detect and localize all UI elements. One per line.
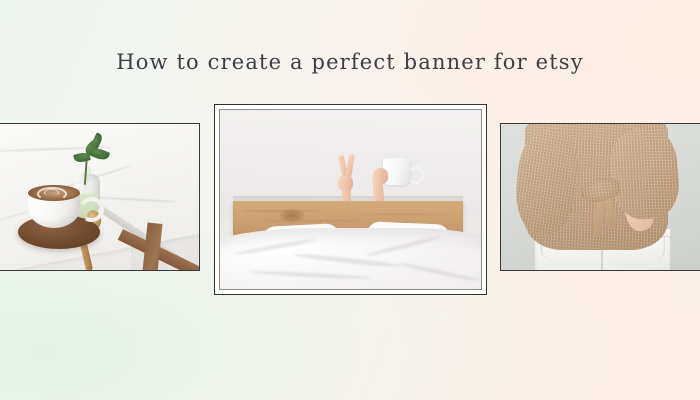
duvet-fold [396,261,480,282]
white-duvet [219,228,482,290]
photo-coffee-inner [0,124,199,270]
left-hand [338,175,353,191]
duvet-fold [294,253,401,269]
duvet-fold [365,234,443,257]
sweater-scene [501,124,700,270]
wood-grain [359,214,446,215]
mug-handle [407,166,425,184]
photo-knit-sweater-outfit [500,123,700,271]
right-hand [373,168,388,184]
photo-coffee-on-marble [0,123,200,271]
wood-grain [261,220,367,221]
etsy-banner: How to create a perfect banner for etsy [0,0,700,400]
photo-bed-inner [219,109,482,290]
photo-arms-raised-in-bed [214,104,487,295]
banner-title: How to create a perfect banner for etsy [0,50,700,74]
coffee-scene [0,124,199,270]
latte-art-inner [44,189,59,196]
duvet-fold [249,269,373,279]
bed-scene [220,110,481,289]
marble-vein [94,197,177,203]
wood-knot [279,209,305,222]
photo-sweater-inner [501,124,700,270]
